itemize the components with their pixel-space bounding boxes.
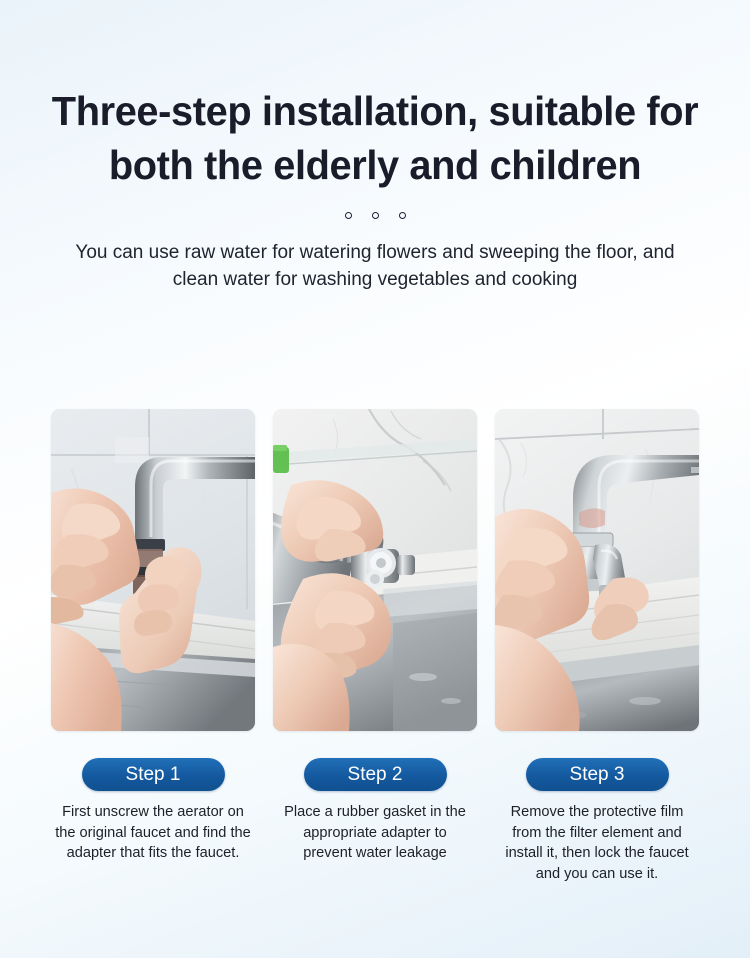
circle-dot-icon — [345, 212, 352, 219]
circle-dot-icon — [372, 212, 379, 219]
circle-dot-icon — [399, 212, 406, 219]
page-subtitle: You can use raw water for watering flowe… — [60, 240, 690, 294]
step-card-1: Step 1 First unscrew the aerator on the … — [51, 409, 255, 885]
step-badge: Step 3 — [526, 758, 669, 791]
step-card-3: Step 3 Remove the protective film from t… — [495, 409, 699, 885]
header: Three-step installation, suitable for bo… — [0, 0, 750, 294]
promo-page: Three-step installation, suitable for bo… — [0, 0, 750, 958]
page-title: Three-step installation, suitable for bo… — [36, 84, 715, 192]
step-caption: Place a rubber gasket in the appropriate… — [277, 802, 473, 864]
steps-row: Step 1 First unscrew the aerator on the … — [51, 409, 699, 885]
decorative-dots — [0, 206, 750, 224]
step-badge: Step 1 — [82, 758, 225, 791]
step-card-2: Step 2 Place a rubber gasket in the appr… — [273, 409, 477, 885]
photo-unscrew-aerator — [51, 409, 255, 731]
photo-insert-gasket — [273, 409, 477, 731]
photo-install-filter — [495, 409, 699, 731]
step-badge: Step 2 — [304, 758, 447, 791]
step-caption: Remove the protective film from the filt… — [499, 802, 695, 885]
step-caption: First unscrew the aerator on the origina… — [55, 802, 251, 864]
